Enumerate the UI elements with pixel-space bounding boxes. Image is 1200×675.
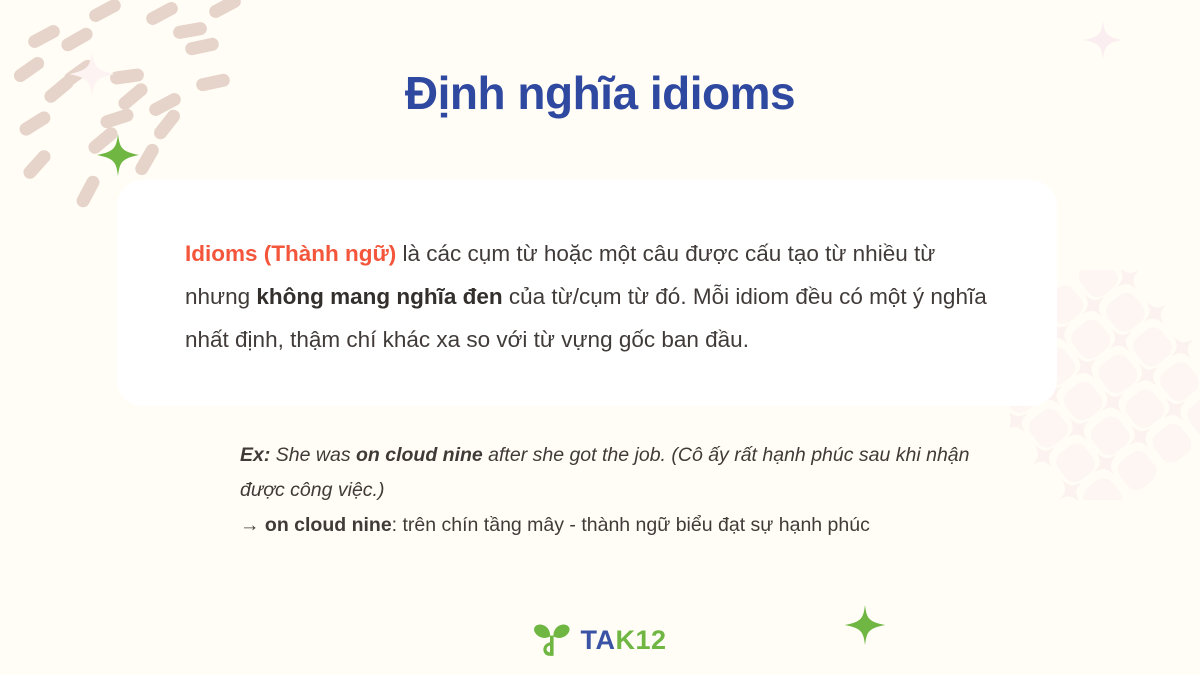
page-title: Định nghĩa idioms — [0, 66, 1200, 120]
example-label: Ex: — [240, 444, 270, 466]
sprout-plant-icon — [533, 623, 571, 657]
dash-mark — [133, 142, 161, 178]
dash-mark — [184, 37, 220, 57]
dash-mark — [74, 173, 101, 209]
example-idiom-repeat: on cloud nine — [265, 514, 392, 536]
dash-mark — [59, 25, 95, 53]
dash-mark — [26, 23, 62, 50]
definition-keyword-bold: không mang nghĩa đen — [256, 284, 502, 309]
definition-paragraph: Idioms (Thành ngữ) là các cụm từ hoặc mộ… — [185, 232, 1005, 361]
example-meaning-text: : trên chín tầng mây - thành ngữ biểu đạ… — [392, 514, 870, 536]
logo-wordmark-ta: TA — [580, 625, 615, 655]
dash-mark — [87, 0, 123, 24]
arrow-right-icon: → — [240, 514, 260, 536]
dash-mark — [86, 125, 120, 157]
example-block: Ex: She was on cloud nine after she got … — [240, 438, 980, 543]
logo-wordmark: TAK12 — [580, 627, 666, 654]
dash-mark — [21, 148, 53, 182]
dash-mark — [144, 0, 180, 27]
logo-wordmark-k12: K12 — [615, 625, 666, 655]
footer-logo: TAK12 — [0, 623, 1200, 657]
definition-card: Idioms (Thành ngữ) là các cụm từ hoặc mộ… — [117, 180, 1057, 406]
dash-mark — [207, 0, 243, 20]
sparkle-green-top-left — [96, 133, 140, 177]
dash-mark — [172, 21, 208, 40]
example-sentence-before: She was — [270, 444, 356, 466]
example-idiom: on cloud nine — [356, 444, 483, 466]
example-sentence: Ex: She was on cloud nine after she got … — [240, 438, 980, 507]
example-meaning: → on cloud nine: trên chín tầng mây - th… — [240, 508, 980, 543]
sparkle-pink-top-right — [1083, 20, 1123, 60]
definition-keyword-highlight: Idioms (Thành ngữ) — [185, 241, 396, 266]
